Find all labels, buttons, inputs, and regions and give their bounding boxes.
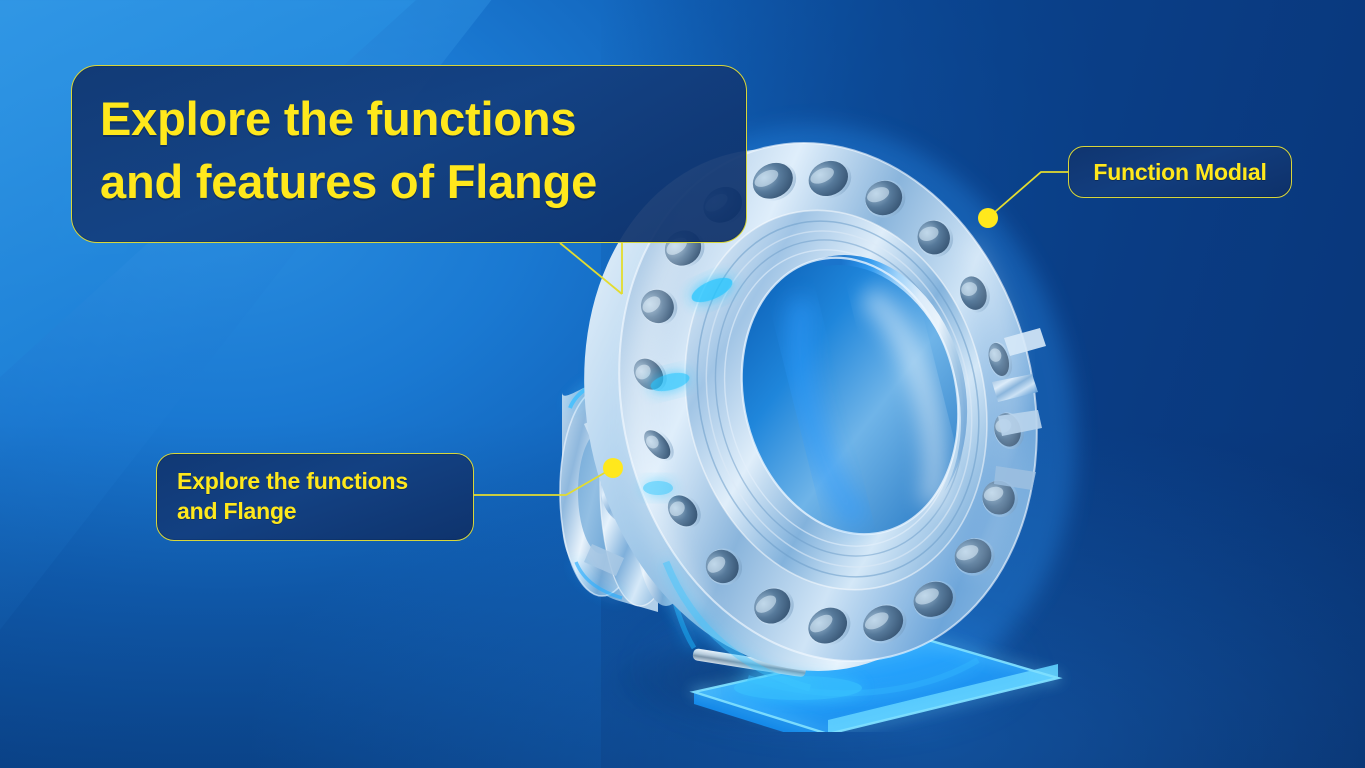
feature-right-label: Function Modıal: [1093, 159, 1266, 186]
scene-root: Explore the functions and features of Fl…: [0, 0, 1365, 768]
feature-callout-left[interactable]: Explore the functions and Flange: [156, 453, 474, 541]
main-title-line-2: and features of Flange: [100, 151, 720, 214]
feature-left-line-2: and Flange: [177, 496, 473, 526]
feature-left-line-1: Explore the functions: [177, 466, 473, 496]
main-title-callout[interactable]: Explore the functions and features of Fl…: [71, 65, 747, 243]
main-title-line-1: Explore the functions: [100, 88, 720, 151]
feature-callout-right[interactable]: Function Modıal: [1068, 146, 1292, 198]
